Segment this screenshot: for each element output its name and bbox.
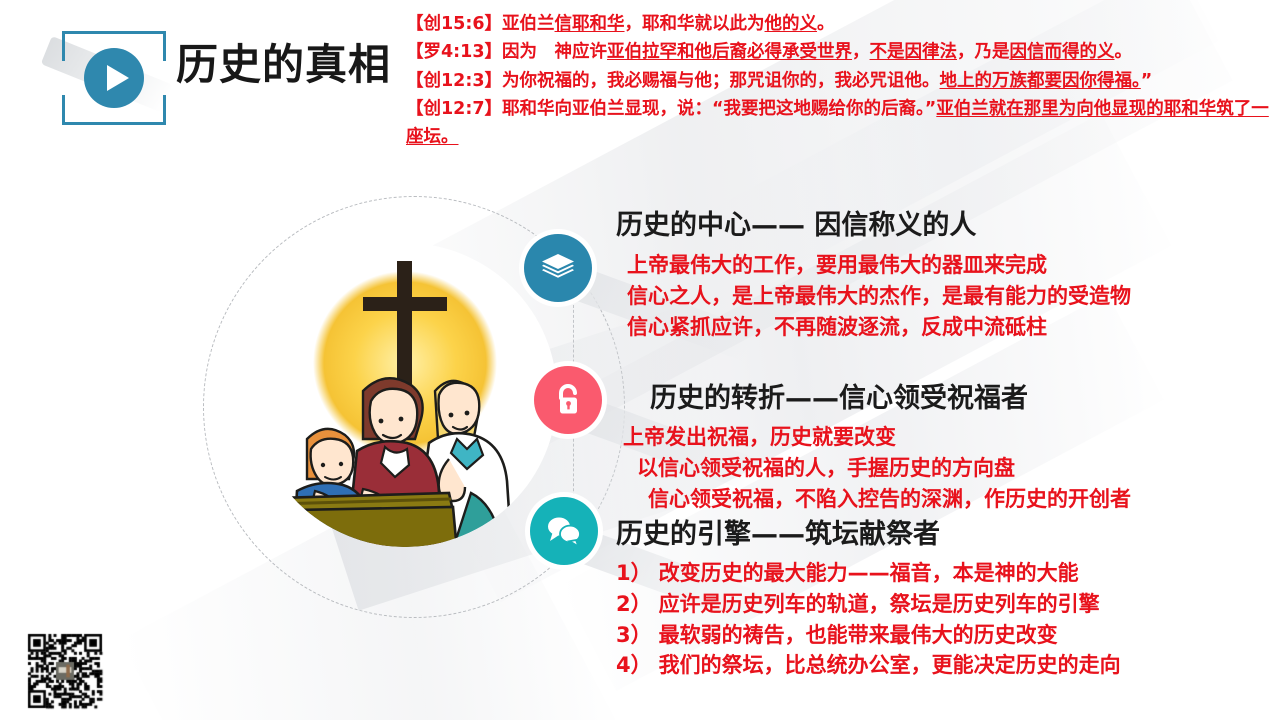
family-praying-at-cross-illustration [253, 243, 557, 547]
section-history-center: 历史的中心—— 因信称义的人 上帝最伟大的工作，要用最伟大的器皿来完成 信心之人… [616, 212, 1131, 342]
speech-bubbles-icon [530, 497, 598, 565]
unlock-icon [534, 366, 602, 434]
section-2-line-2: 以信心领受祝福的人，手握历史的方向盘 [637, 453, 1131, 484]
page-title: 历史的真相 [176, 44, 391, 86]
scripture-text: ， [852, 42, 870, 62]
scripture-line-2: 【罗4:13】因为 神应许亚伯拉罕和他后裔必得承受世界，不是因律法，乃是因信而得… [406, 38, 1274, 66]
section-1-heading: 历史的中心—— 因信称义的人 [616, 212, 1131, 240]
scripture-emphasis: 亚伯拉罕和他后裔必得承受世界 [607, 42, 852, 62]
qr-code[interactable] [19, 630, 111, 712]
section-1-line-2: 信心之人，是上帝最伟大的杰作，是最有能力的受造物 [627, 281, 1131, 312]
section-3-item-4: 4） 我们的祭坛，比总统办公室，更能决定历史的走向 [616, 650, 1121, 681]
scripture-text: ，乃是 [957, 42, 1010, 62]
section-3-item-1: 1） 改变历史的最大能力——福音，本是神的大能 [616, 558, 1121, 589]
section-history-engine: 历史的引擎——筑坛献祭者 1） 改变历史的最大能力——福音，本是神的大能 2） … [616, 521, 1121, 681]
scripture-line-3: 【创12:3】为你祝福的，我必赐福与他；那咒诅你的，我必咒诅他。地上的万族都要因… [406, 67, 1274, 95]
scripture-emphasis: 信耶和华 [555, 14, 625, 34]
play-button-icon [84, 48, 144, 108]
scripture-text: ” [1141, 71, 1153, 91]
section-3-item-4-text: 我们的祭坛，比总统办公室，更能决定历史的走向 [659, 650, 1121, 681]
scripture-emphasis: 不是因律法 [870, 42, 958, 62]
scripture-emphasis: 因信而得的义 [1010, 42, 1115, 62]
section-3-item-1-number: 1） [616, 558, 652, 589]
slide-canvas: 历史的真相 【创15:6】亚伯兰信耶和华，耶和华就以此为他的义。【罗4:13】因… [0, 0, 1280, 720]
scripture-text: 。 [1115, 42, 1133, 62]
section-3-item-1-text: 改变历史的最大能力——福音，本是神的大能 [659, 558, 1079, 589]
section-1-body: 上帝最伟大的工作，要用最伟大的器皿来完成 信心之人，是上帝最伟大的杰作，是最有能… [627, 250, 1131, 342]
scripture-block: 【创15:6】亚伯兰信耶和华，耶和华就以此为他的义。【罗4:13】因为 神应许亚… [406, 10, 1274, 152]
section-history-turning-point: 历史的转折——信心领受祝福者 上帝发出祝福，历史就要改变 以信心领受祝福的人，手… [650, 385, 1131, 514]
brand-logo [58, 27, 170, 129]
scripture-text: 因为 神应许 [502, 42, 607, 62]
scripture-line-1: 【创15:6】亚伯兰信耶和华，耶和华就以此为他的义。 [406, 10, 1274, 38]
section-3-item-3-text: 最软弱的祷告，也能带来最伟大的历史改变 [659, 620, 1058, 651]
scripture-emphasis: 地上的万族都要因你得福。 [940, 71, 1141, 91]
scripture-emphasis: 他的义 [765, 14, 818, 34]
section-2-line-3: 信心领受祝福，不陷入控告的深渊，作历史的开创者 [648, 484, 1131, 515]
scripture-text: ，耶和华就以此为 [625, 14, 765, 34]
section-3-item-3: 3） 最软弱的祷告，也能带来最伟大的历史改变 [616, 620, 1121, 651]
section-2-line-1: 上帝发出祝福，历史就要改变 [623, 422, 1131, 453]
scripture-text: 为你祝福的，我必赐福与他；那咒诅你的，我必咒诅他。 [502, 71, 940, 91]
section-3-body: 1） 改变历史的最大能力——福音，本是神的大能 2） 应许是历史列车的轨道，祭坛… [616, 558, 1121, 681]
layers-icon [524, 234, 592, 302]
section-2-body: 上帝发出祝福，历史就要改变 以信心领受祝福的人，手握历史的方向盘 信心领受祝福，… [623, 422, 1131, 514]
scripture-ref: 【创15:6】 [406, 14, 502, 34]
scripture-ref: 【罗4:13】 [406, 42, 502, 62]
section-1-line-3: 信心紧抓应许，不再随波逐流，反成中流砥柱 [627, 312, 1131, 343]
section-2-heading: 历史的转折——信心领受祝福者 [650, 385, 1131, 413]
scripture-ref: 【创12:7】 [406, 99, 502, 119]
scripture-line-4: 【创12:7】耶和华向亚伯兰显现，说：“我要把这地赐给你的后裔。”亚伯兰就在那里… [406, 95, 1274, 152]
section-3-item-3-number: 3） [616, 620, 652, 651]
scripture-text: 。 [817, 14, 835, 34]
scripture-ref: 【创12:3】 [406, 71, 502, 91]
section-1-line-1: 上帝最伟大的工作，要用最伟大的器皿来完成 [627, 250, 1131, 281]
section-3-heading: 历史的引擎——筑坛献祭者 [616, 521, 1121, 549]
scripture-text: 耶和华向亚伯兰显现，说：“我要把这地赐给你的后裔。” [502, 99, 936, 119]
section-3-item-4-number: 4） [616, 650, 652, 681]
section-3-item-2: 2） 应许是历史列车的轨道，祭坛是历史列车的引擎 [616, 589, 1121, 620]
section-3-item-2-text: 应许是历史列车的轨道，祭坛是历史列车的引擎 [659, 589, 1100, 620]
scripture-text: 亚伯兰 [502, 14, 555, 34]
section-3-item-2-number: 2） [616, 589, 652, 620]
